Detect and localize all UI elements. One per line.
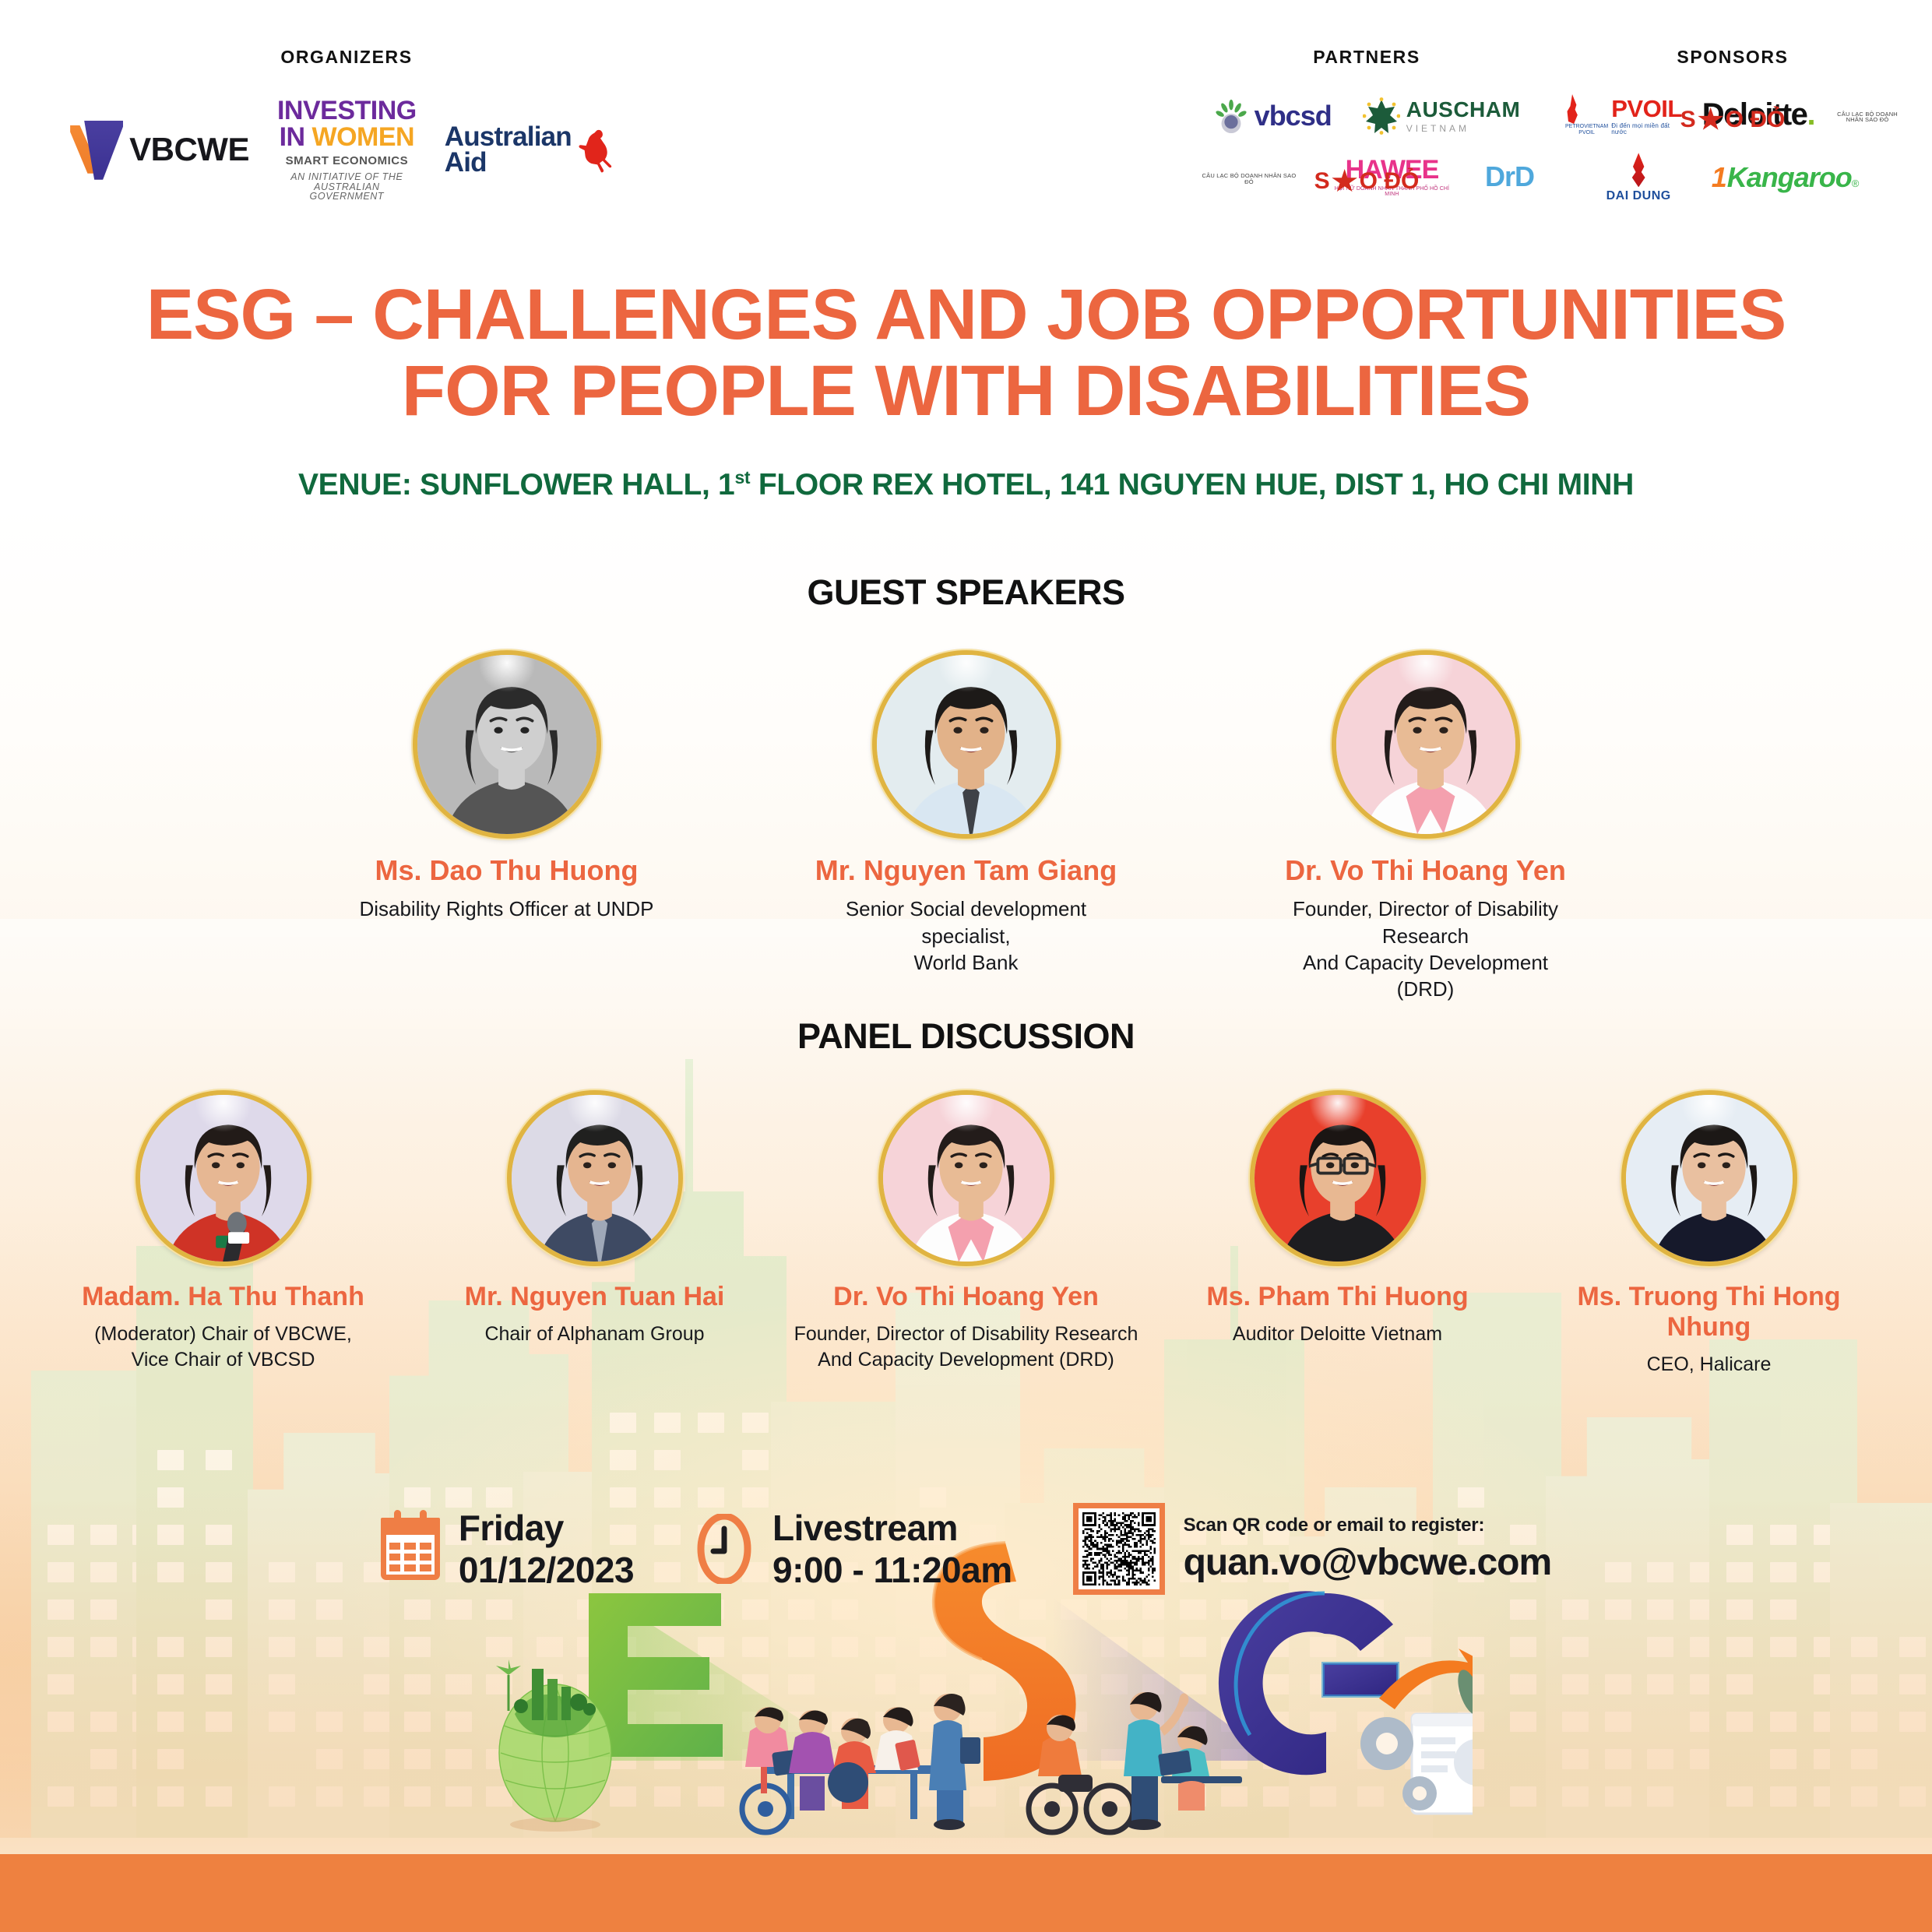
building-window bbox=[698, 1413, 724, 1433]
panel-discussion-row: Madam. Ha Thu Thanh(Moderator) Chair of … bbox=[0, 1090, 1932, 1378]
venue-ordinal: st bbox=[734, 467, 750, 487]
avatar bbox=[507, 1090, 683, 1266]
speaker-role: (Moderator) Chair of VBCWE,Vice Chair of… bbox=[46, 1321, 400, 1373]
speaker-role: Chair of Alphanam Group bbox=[417, 1321, 772, 1347]
time-info: Livestream 9:00 - 11:20am bbox=[695, 1507, 1012, 1592]
calendar-icon bbox=[381, 1518, 440, 1580]
vbcwe-logo: VBCWE bbox=[69, 119, 249, 180]
date-value: 01/12/2023 bbox=[459, 1549, 634, 1591]
vbcwe-logo-text: VBCWE bbox=[129, 131, 249, 168]
speaker-name: Mr. Nguyen Tuan Hai bbox=[417, 1282, 772, 1312]
time-value: 9:00 - 11:20am bbox=[772, 1549, 1012, 1591]
qr-code[interactable] bbox=[1073, 1503, 1165, 1595]
kangaroo-numeral: 1 bbox=[1712, 161, 1727, 194]
date-info: Friday 01/12/2023 bbox=[381, 1507, 634, 1592]
date-day: Friday bbox=[459, 1507, 634, 1549]
dai-dung-logo: DAI DUNG bbox=[1606, 153, 1671, 202]
registration-info: Scan QR code or email to register: quan.… bbox=[1073, 1503, 1552, 1595]
partners-label: PARTNERS bbox=[1199, 47, 1534, 68]
building-window bbox=[610, 1450, 636, 1470]
auscham-star-icon bbox=[1363, 97, 1400, 135]
dai-dung-logo-text: DAI DUNG bbox=[1606, 190, 1671, 202]
ausaid-line1: Australian bbox=[445, 124, 572, 150]
speaker-name: Mr. Nguyen Tam Giang bbox=[815, 854, 1118, 886]
venue-suffix: FLOOR REX HOTEL, 141 NGUYEN HUE, DIST 1,… bbox=[750, 468, 1634, 501]
speaker-name: Ms. Pham Thi Huong bbox=[1160, 1282, 1515, 1312]
panelist-card: Mr. Nguyen Tuan HaiChair of Alphanam Gro… bbox=[417, 1090, 772, 1378]
guest-speaker-card: Dr. Vo Thi Hoang YenFounder, Director of… bbox=[1274, 650, 1578, 1003]
speaker-name: Dr. Vo Thi Hoang Yen bbox=[789, 1282, 1143, 1312]
page-title: ESG – CHALLENGES AND JOB OPPORTUNITIES F… bbox=[0, 276, 1932, 430]
event-info-bar: Friday 01/12/2023 Livestream 9:00 - 11:2… bbox=[0, 1503, 1932, 1595]
kangaroo-reg: ® bbox=[1852, 178, 1860, 189]
speaker-role: Founder, Director of Disability Research… bbox=[789, 1321, 1143, 1373]
guest-speakers-row: Ms. Dao Thu HuongDisability Rights Offic… bbox=[0, 650, 1932, 1003]
building-window bbox=[157, 1450, 184, 1470]
star-icon bbox=[1698, 107, 1724, 132]
avatar bbox=[1250, 1090, 1426, 1266]
kangaroo-icon bbox=[576, 125, 625, 174]
speaker-role: Founder, Director of Disability Research… bbox=[1274, 896, 1578, 1002]
speaker-name: Ms. Truong Thi Hong Nhung bbox=[1532, 1282, 1886, 1343]
saodo-text-a: S bbox=[1314, 170, 1330, 193]
avatar bbox=[1621, 1090, 1797, 1266]
register-prompt: Scan QR code or email to register: bbox=[1184, 1515, 1552, 1536]
panelist-card: Dr. Vo Thi Hoang YenFounder, Director of… bbox=[789, 1090, 1143, 1378]
title-line-2: FOR PEOPLE WITH DISABILITIES bbox=[0, 353, 1932, 429]
logo-strip: ORGANIZERS VBCWE INVESTING IN WOMEN SMAR… bbox=[0, 0, 1932, 218]
vbcwe-mark-icon bbox=[69, 119, 126, 180]
guest-speaker-card: Ms. Dao Thu HuongDisability Rights Offic… bbox=[355, 650, 659, 1003]
auscham-logo-sub: VIETNAM bbox=[1406, 124, 1521, 133]
building-window bbox=[654, 1413, 681, 1433]
saodo-text-b: O ĐỎ bbox=[1360, 170, 1420, 193]
sponsors-label: SPONSORS bbox=[1565, 47, 1900, 68]
iiw-subtagline: AN INITIATIVE OF THE AUSTRALIAN GOVERNME… bbox=[277, 172, 417, 202]
clock-icon bbox=[695, 1514, 754, 1584]
time-label: Livestream bbox=[772, 1507, 1012, 1549]
auscham-logo: AUSCHAM VIETNAM bbox=[1363, 97, 1521, 135]
vbcsd-emblem-icon bbox=[1213, 98, 1249, 134]
building-window bbox=[654, 1450, 681, 1470]
speaker-role: Auditor Deloitte Vietnam bbox=[1160, 1321, 1515, 1347]
saodo-text-b: O ĐỎ bbox=[1726, 108, 1786, 132]
vbcsd-logo: vbcsd bbox=[1213, 98, 1332, 134]
star-icon bbox=[1332, 169, 1358, 194]
speaker-role: CEO, Halicare bbox=[1532, 1352, 1886, 1378]
sao-do-logo-sponsor: S O ĐỎ CÂU LẠC BỘ DOANH NHÂN SAO ĐỎ bbox=[1835, 107, 1900, 123]
building-window bbox=[610, 1413, 636, 1433]
people-group-left bbox=[742, 1694, 980, 1832]
iiw-tagline: SMART ECONOMICS bbox=[277, 155, 417, 167]
bottom-accent-bar bbox=[0, 1854, 1932, 1932]
venue-prefix: VENUE: SUNFLOWER HALL, 1 bbox=[298, 468, 734, 501]
speaker-role: Disability Rights Officer at UNDP bbox=[355, 896, 659, 922]
avatar bbox=[878, 1090, 1054, 1266]
organizers-label: ORGANIZERS bbox=[109, 47, 584, 68]
kangaroo-brand-logo: 1Kangaroo® bbox=[1712, 161, 1860, 194]
iiw-text-orange: WOMEN bbox=[312, 122, 415, 152]
australian-aid-logo: Australian Aid bbox=[445, 124, 625, 176]
panel-discussion-heading: PANEL DISCUSSION bbox=[0, 1016, 1932, 1057]
kangaroo-logo-text: Kangaroo bbox=[1727, 161, 1852, 194]
guest-speaker-card: Mr. Nguyen Tam GiangSenior Social develo… bbox=[815, 650, 1118, 1003]
building-window bbox=[742, 1450, 769, 1470]
building-window bbox=[206, 1450, 232, 1470]
venue-line: VENUE: SUNFLOWER HALL, 1st FLOOR REX HOT… bbox=[0, 467, 1932, 502]
avatar bbox=[872, 650, 1061, 839]
dai-dung-flame-icon bbox=[1627, 153, 1650, 187]
investing-in-women-logo: INVESTING IN WOMEN SMART ECONOMICS AN IN… bbox=[277, 97, 417, 202]
title-line-1: ESG – CHALLENGES AND JOB OPPORTUNITIES bbox=[0, 276, 1932, 353]
avatar bbox=[135, 1090, 311, 1266]
speaker-name: Dr. Vo Thi Hoang Yen bbox=[1274, 854, 1578, 886]
building-window bbox=[742, 1413, 769, 1433]
auscham-logo-text: AUSCHAM bbox=[1406, 99, 1521, 121]
avatar bbox=[1332, 650, 1520, 839]
panelist-card: Ms. Pham Thi HuongAuditor Deloitte Vietn… bbox=[1160, 1090, 1515, 1378]
event-poster: ORGANIZERS VBCWE INVESTING IN WOMEN SMAR… bbox=[0, 0, 1932, 1932]
panelist-card: Madam. Ha Thu Thanh(Moderator) Chair of … bbox=[46, 1090, 400, 1378]
speaker-name: Madam. Ha Thu Thanh bbox=[46, 1282, 400, 1312]
register-email[interactable]: quan.vo@vbcwe.com bbox=[1184, 1541, 1552, 1584]
speaker-role: Senior Social development specialist,Wor… bbox=[815, 896, 1118, 976]
speaker-name: Ms. Dao Thu Huong bbox=[355, 854, 659, 886]
guest-speakers-heading: GUEST SPEAKERS bbox=[0, 572, 1932, 613]
avatar bbox=[413, 650, 601, 839]
ausaid-line2: Aid bbox=[445, 150, 572, 175]
vbcsd-logo-text: vbcsd bbox=[1255, 100, 1332, 132]
saodo-text-a: S bbox=[1680, 108, 1696, 132]
sao-do-logo: S O ĐỎ CÂU LẠC BỘ DOANH NHÂN SAO ĐỎ bbox=[1199, 169, 1299, 185]
panelist-card: Ms. Truong Thi Hong NhungCEO, Halicare bbox=[1532, 1090, 1886, 1378]
